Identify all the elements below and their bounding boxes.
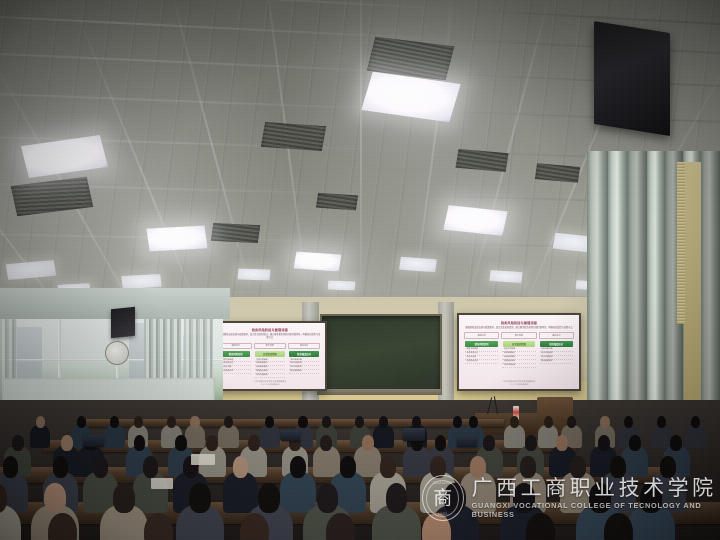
ceiling-light-panel	[399, 257, 437, 272]
ceiling-light-panel	[327, 280, 355, 290]
audience-person-body	[280, 472, 315, 513]
ceiling-light-panel	[489, 270, 522, 283]
slide-chip: 日常监控管理	[503, 341, 536, 347]
ceiling-grid-line	[360, 0, 362, 335]
slide-column-head: 事后应对	[539, 332, 574, 338]
slide-title: 税务风险防控与管理流程	[464, 320, 574, 325]
slide-chip: 税务风险识别	[465, 341, 498, 347]
audience-person-body	[218, 425, 238, 449]
drape-fold	[587, 151, 608, 437]
audience-person-head	[175, 435, 187, 451]
audience-person-head	[12, 435, 24, 451]
slide-column-heads: 事前防范 事中控制 事后应对	[219, 343, 320, 349]
slide-subtitle: 依据税收法律法规与政策要求，结合企业实际情况，建立健全税务风险内部控制体系，明确…	[464, 327, 574, 330]
slide-item: 整改措施落实	[540, 360, 573, 364]
slide-item-list: 资料准备归档 税企沟通说明 争议处理跟进 整改措施落实	[289, 359, 319, 374]
audience-person-head	[600, 416, 609, 428]
laptop	[281, 430, 300, 441]
notebook-paper	[151, 478, 173, 489]
audience-person-head	[206, 435, 218, 451]
audience-person-head	[317, 483, 339, 512]
audience-person-head	[248, 435, 260, 451]
audience-person-head	[36, 416, 45, 428]
slide-footer-line: 二〇二三年度专题培训	[459, 384, 579, 387]
audience-person-head	[589, 483, 611, 512]
audience-person-head	[320, 435, 332, 451]
ceiling-light-panel	[146, 225, 207, 251]
audience-person-body	[652, 425, 672, 449]
slide-item: 整改措施落实	[289, 370, 319, 374]
slide-chip: 税务风险识别	[221, 351, 251, 357]
slide-subtitle: 依据税收法律法规与政策要求，结合企业实际情况，建立健全税务风险内部控制体系，明确…	[219, 334, 320, 340]
slide-column-head: 事前防范	[219, 343, 251, 349]
audience-person-head	[379, 416, 388, 428]
audience-person-body	[223, 472, 258, 513]
audience-person-head	[520, 456, 536, 478]
audience-person-head	[53, 456, 69, 478]
slide-item-list: 政策法规梳理 业务流程分析 风险点归集 风险等级评定	[220, 359, 250, 374]
audience-person-head	[265, 416, 274, 428]
audience-person-head	[3, 456, 19, 478]
audience-person-head	[469, 416, 478, 428]
audience-person-head	[258, 483, 280, 512]
audience-person-head	[670, 435, 682, 451]
slide-item-list: 资料准备归档 税企沟通说明 争议处理跟进 整改措施落实	[540, 348, 573, 363]
drape-fold	[608, 151, 627, 437]
audience-person-head	[556, 435, 568, 451]
audience-person-head	[629, 435, 641, 451]
ceiling-light-panel	[294, 251, 341, 271]
right-projection-screen[interactable]: 税务风险防控与管理流程 依据税收法律法规与政策要求，结合企业实际情况，建立健全税…	[457, 313, 581, 390]
audience-person-body	[104, 425, 124, 449]
slide-item-list: 发票合规审核 申报数据核对 台账动态更新 预警指标监测 内部沟通协调	[502, 348, 535, 367]
drape-fold	[647, 151, 664, 437]
audience-person-head	[233, 456, 249, 478]
slide-chip: 税务稽查应对	[540, 341, 573, 347]
audience-person-head	[61, 435, 73, 451]
slide-item: 风险等级评定	[220, 370, 250, 374]
chalkboard	[320, 314, 442, 395]
audience-person-head	[290, 456, 306, 478]
wall-speaker-icon	[111, 307, 135, 339]
ceiling-vent-tile	[316, 193, 358, 211]
left-projection-screen[interactable]: 税务风险防控与管理流程 依据税收法律法规与政策要求，结合企业实际情况，建立健全税…	[213, 321, 326, 391]
audience-person-head	[470, 456, 486, 478]
right-wall-strip	[684, 162, 701, 400]
slide-column: 税务稽查应对 资料准备归档 税企沟通说明 争议处理跟进 整改措施落实	[539, 341, 574, 368]
audience-person-head	[435, 435, 447, 451]
audience-person-body	[259, 425, 279, 449]
audience-person-head	[598, 435, 610, 451]
audience-person-head	[167, 416, 176, 428]
audience-person-body	[30, 425, 50, 449]
slide-chip: 日常监控管理	[255, 351, 285, 357]
ceiling-light-panel	[237, 268, 270, 280]
audience-person-body	[313, 446, 340, 477]
audience-person-head	[110, 416, 119, 428]
slide-column-head: 事前防范	[464, 332, 499, 338]
window-louver	[677, 162, 685, 324]
slide-content: 税务风险防控与管理流程 依据税收法律法规与政策要求，结合企业实际情况，建立健全税…	[459, 315, 579, 388]
audience-person-body	[373, 425, 393, 449]
ceiling-vent-tile	[261, 122, 327, 151]
drape-fold	[627, 151, 647, 437]
ceiling-vent-tile	[211, 223, 260, 244]
slide-chip: 税务稽查应对	[289, 351, 319, 357]
slide-item: 风险等级评定	[465, 360, 498, 364]
laptop	[457, 435, 477, 447]
ceiling-speaker-icon	[594, 21, 670, 136]
slide-column: 税务风险识别 政策法规梳理 业务流程分析 风险点归集 风险等级评定	[219, 351, 251, 378]
slide-item: 内部沟通协调	[502, 364, 535, 368]
audience-person-head	[224, 416, 233, 428]
audience-person-head	[190, 416, 199, 428]
audience-person-head	[691, 416, 700, 428]
audience-person-head	[610, 456, 626, 478]
audience-person-head	[93, 456, 109, 478]
audience-person-head	[544, 416, 553, 428]
audience-person-head	[444, 483, 466, 512]
chalkboard-tray	[317, 389, 441, 395]
drape-fold	[700, 151, 720, 437]
audience-person-head	[430, 456, 446, 478]
audience-person-head	[44, 483, 66, 512]
audience-person-head	[113, 483, 135, 512]
audience-person-head	[624, 416, 633, 428]
audience-person-head	[386, 483, 408, 512]
laptop	[83, 435, 105, 447]
slide-content: 税务风险防控与管理流程 依据税收法律法规与政策要求，结合企业实际情况，建立健全税…	[215, 323, 324, 389]
audience-person-head	[510, 416, 519, 428]
desk-row	[86, 419, 504, 428]
audience-person-head	[567, 416, 576, 428]
audience-person-head	[525, 435, 537, 451]
audience-person-head	[570, 456, 586, 478]
slide-footer-line: 二〇二三年度专题培训	[215, 384, 324, 387]
audience-person-head	[640, 483, 662, 512]
slide-footer: 广西工商职业技术学院 财务管理教研室 二〇二三年度专题培训	[215, 381, 324, 387]
audience-person-head	[143, 456, 159, 478]
audience-person-head	[298, 416, 307, 428]
slide-column: 税务稽查应对 资料准备归档 税企沟通说明 争议处理跟进 整改措施落实	[288, 351, 320, 378]
slide-column: 日常监控管理 发票合规审核 申报数据核对 台账动态更新 预警指标监测 内部沟通协…	[501, 341, 536, 368]
audience-person-head	[77, 416, 86, 428]
slide-title: 税务风险防控与管理流程	[219, 327, 320, 332]
audience-person-head	[362, 435, 374, 451]
slide-columns: 税务风险识别 政策法规梳理 业务流程分析 风险点归集 风险等级评定 日常监控管理…	[219, 351, 320, 378]
audience-person-body	[185, 425, 205, 449]
audience-person-head	[412, 416, 421, 428]
slide-column: 税务风险识别 政策法规梳理 业务流程分析 风险点归集 风险等级评定	[464, 341, 499, 368]
slide-column-head: 事中控制	[254, 343, 286, 349]
audience-person-head	[340, 456, 356, 478]
slide-column-head: 事中控制	[501, 332, 536, 338]
ceiling-vent-tile	[535, 163, 580, 183]
slide-column-heads: 事前防范 事中控制 事后应对	[464, 332, 574, 338]
notebook-paper	[191, 454, 215, 466]
audience-person-body	[504, 425, 524, 449]
slide-item-list: 政策法规梳理 业务流程分析 风险点归集 风险等级评定	[465, 348, 498, 363]
slide-column: 日常监控管理 发票合规审核 申报数据核对 台账动态更新 预警指标监测 内部沟通协…	[254, 351, 286, 378]
audience-person-head	[48, 513, 77, 540]
audience-person-head	[134, 435, 146, 451]
audience-person-head	[660, 456, 676, 478]
slide-footer: 广西工商职业技术学院 财务管理教研室 二〇二三年度专题培训	[459, 381, 579, 387]
slide-item-list: 发票合规审核 申报数据核对 台账动态更新 预警指标监测 内部沟通协调	[255, 359, 285, 378]
audience-person-head	[134, 416, 143, 428]
laptop	[403, 428, 425, 441]
lecture-hall-photo: 税务风险防控与管理流程 依据税收法律法规与政策要求，结合企业实际情况，建立健全税…	[0, 0, 720, 540]
audience-person-head	[322, 416, 331, 428]
slide-column-head: 事后应对	[288, 343, 320, 349]
audience-person-head	[483, 435, 495, 451]
ceiling-light-panel	[122, 274, 162, 289]
slide-item: 内部沟通协调	[255, 374, 285, 378]
slide-columns: 税务风险识别 政策法规梳理 业务流程分析 风险点归集 风险等级评定 日常监控管理…	[464, 341, 574, 368]
audience-person-head	[189, 483, 211, 512]
audience-person-body	[685, 425, 705, 449]
audience-person-head	[513, 483, 535, 512]
audience-person-head	[380, 456, 396, 478]
